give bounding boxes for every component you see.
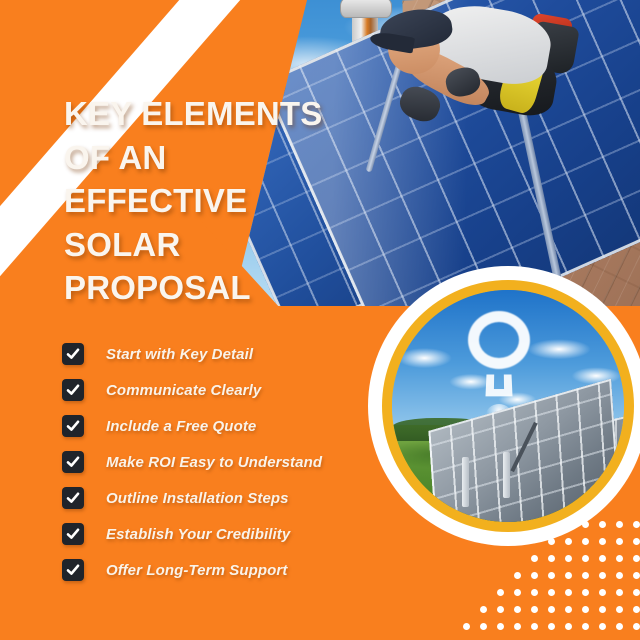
checkmark-icon[interactable] [62, 487, 84, 509]
dot-row [463, 589, 640, 596]
list-item-label: Communicate Clearly [106, 382, 261, 399]
list-item[interactable]: Make ROI Easy to Understand [62, 444, 382, 480]
checkmark-icon[interactable] [62, 451, 84, 473]
lightbulb-cloud-icon [468, 311, 530, 369]
list-item-label: Outline Installation Steps [106, 490, 289, 507]
ground-mount-solar-array-lightbulb-cloud-photo [368, 266, 640, 546]
list-item[interactable]: Outline Installation Steps [62, 480, 382, 516]
array-support-post [503, 452, 510, 498]
dot-row [463, 555, 640, 562]
roof-vent-cap [340, 0, 392, 18]
list-item-label: Establish Your Credibility [106, 526, 290, 543]
checkmark-icon[interactable] [62, 379, 84, 401]
lightbulb-cloud-neck [485, 374, 512, 396]
halftone-dot-triangle [463, 521, 640, 640]
checkmark-icon[interactable] [62, 559, 84, 581]
list-item[interactable]: Establish Your Credibility [62, 516, 382, 552]
checklist: Start with Key Detail Communicate Clearl… [62, 336, 382, 588]
dot-row [463, 623, 640, 630]
list-item-label: Make ROI Easy to Understand [106, 454, 322, 471]
checkmark-icon[interactable] [62, 523, 84, 545]
dot-row [463, 538, 640, 545]
list-item[interactable]: Communicate Clearly [62, 372, 382, 408]
page-title: KEY ELEMENTS OF AN EFFECTIVE SOLAR PROPO… [64, 92, 344, 310]
dot-row [463, 572, 640, 579]
checkmark-icon[interactable] [62, 415, 84, 437]
dot-row [463, 521, 640, 528]
list-item-label: Include a Free Quote [106, 418, 256, 435]
dot-row [463, 606, 640, 613]
list-item[interactable]: Offer Long-Term Support [62, 552, 382, 588]
poster-canvas: KEY ELEMENTS OF AN EFFECTIVE SOLAR PROPO… [0, 0, 640, 640]
checkmark-icon[interactable] [62, 343, 84, 365]
list-item-label: Start with Key Detail [106, 346, 253, 363]
array-support-post [462, 457, 469, 507]
list-item[interactable]: Include a Free Quote [62, 408, 382, 444]
circle-photo-inner [392, 290, 624, 522]
list-item-label: Offer Long-Term Support [106, 562, 287, 579]
list-item[interactable]: Start with Key Detail [62, 336, 382, 372]
